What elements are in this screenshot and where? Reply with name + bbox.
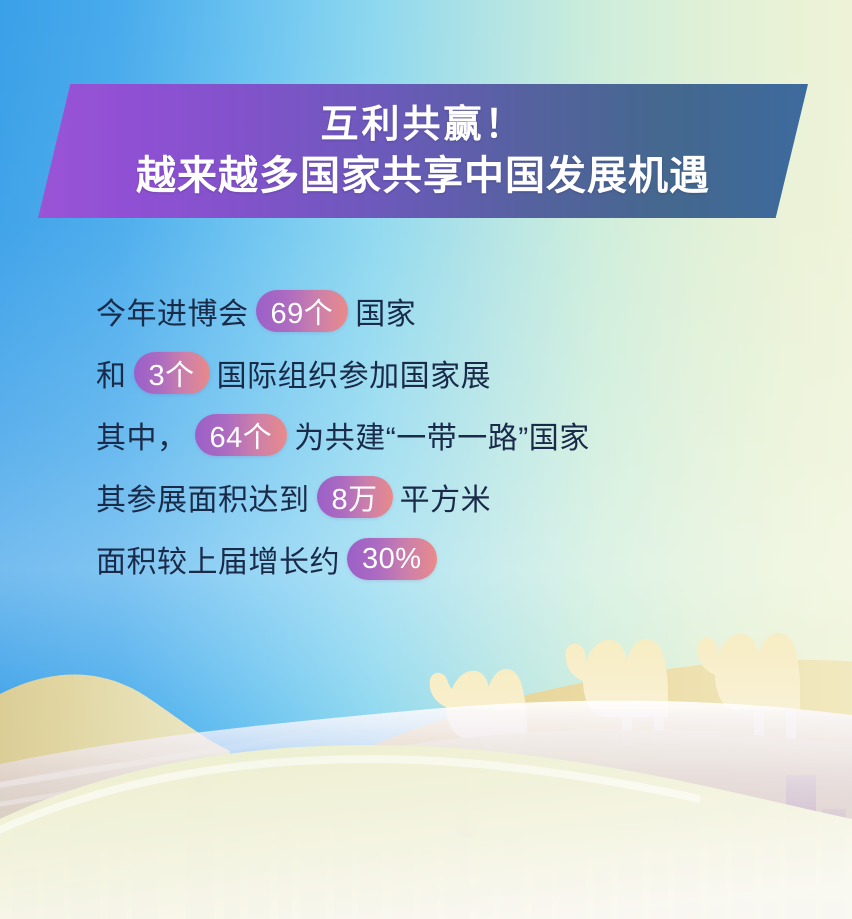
desert-scene — [0, 589, 852, 919]
statement-text-after: 国家 — [355, 289, 416, 333]
statement-highlight-pill: 3个 — [134, 352, 210, 394]
statement-row: 其中， 64个 为共建“一带一路”国家 — [96, 406, 796, 464]
statement-row: 和 3个 国际组织参加国家展 — [96, 344, 796, 402]
statement-text-before: 今年进博会 — [96, 289, 249, 333]
statement-text-after: 国际组织参加国家展 — [217, 351, 492, 395]
title-banner: 互利共赢！ 越来越多国家共享中国发展机遇 — [38, 84, 808, 218]
statement-highlight-pill: 64个 — [195, 414, 288, 456]
statement-row: 今年进博会 69个 国家 — [96, 282, 796, 340]
statement-row: 面积较上届增长约 30% — [96, 530, 796, 588]
statement-row: 其参展面积达到 8万 平方米 — [96, 468, 796, 526]
statement-text-before: 其参展面积达到 — [96, 475, 310, 519]
statement-highlight-pill: 8万 — [317, 476, 393, 518]
statement-text-before: 面积较上届增长约 — [96, 537, 340, 581]
statement-text-before: 和 — [96, 351, 127, 395]
statement-highlight-pill: 30% — [347, 538, 437, 580]
banner-title-line-2: 越来越多国家共享中国发展机遇 — [136, 156, 710, 196]
statement-highlight-pill: 69个 — [256, 290, 349, 332]
statement-text-after: 为共建“一带一路”国家 — [294, 413, 589, 457]
statement-text-before: 其中， — [96, 413, 188, 457]
statement-list: 今年进博会 69个 国家 和 3个 国际组织参加国家展 其中， 64个 为共建“… — [96, 282, 796, 592]
banner-title-line-1: 互利共赢！ — [320, 106, 525, 144]
infographic-poster: 互利共赢！ 越来越多国家共享中国发展机遇 今年进博会 69个 国家 和 3个 国… — [0, 0, 852, 919]
statement-text-after: 平方米 — [400, 475, 492, 519]
